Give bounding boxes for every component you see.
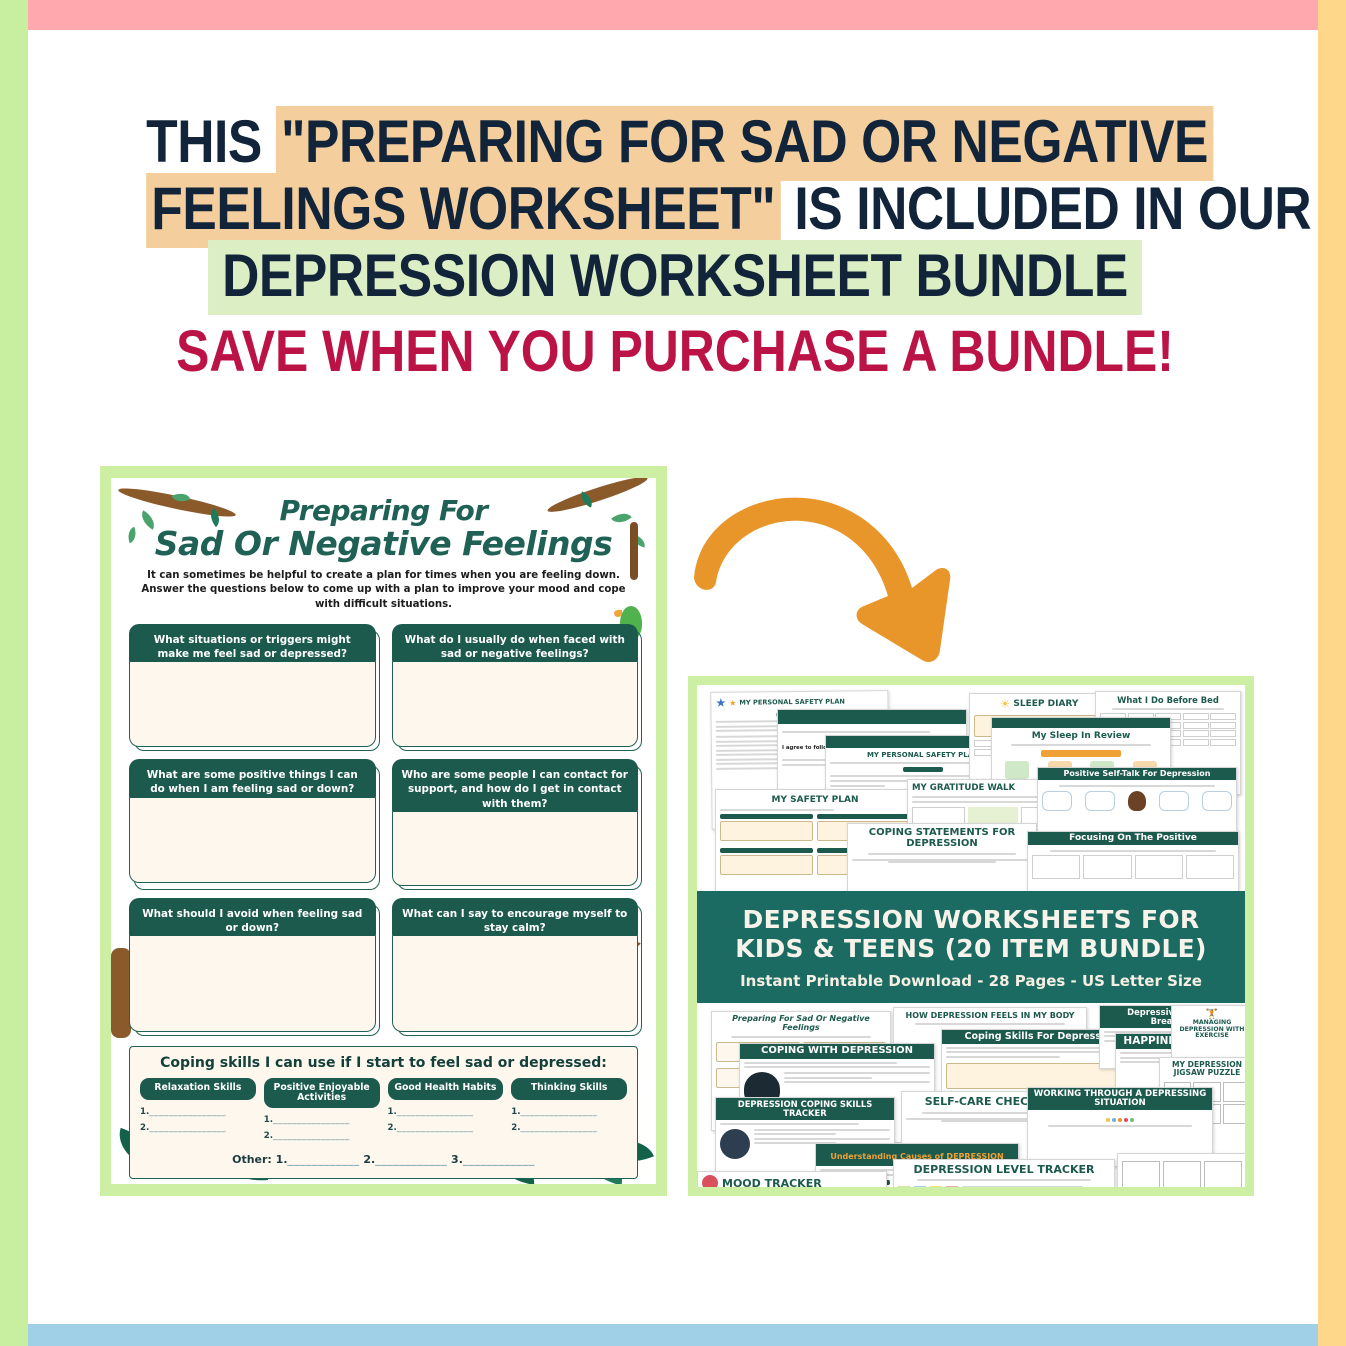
headline-line2-plain: IS INCLUDED IN OUR [780,175,1311,242]
preview-title: Focusing On The Positive [1069,834,1197,843]
bundle-preview-frame[interactable]: ★ ★ MY PERSONAL SAFETY PLAN [688,676,1254,1196]
coping-line-3-2[interactable]: 2.________________ [388,1123,504,1133]
preview-title-bar: Focusing On The Positive [1028,832,1238,845]
coping-skills-section: Coping skills I can use if I start to fe… [129,1046,638,1180]
star-icon: ★ [729,698,736,707]
coping-column-thinking-skills: Thinking Skills 1.________________ 2.___… [511,1078,627,1148]
coping-column-positive-activities: Positive Enjoyable Activities 1.________… [264,1078,380,1148]
coping-line-4-1[interactable]: 1.________________ [511,1107,627,1117]
sun-icon: ☀ [1000,697,1011,711]
worksheet-title-line2: Sad Or Negative Feelings [111,526,656,562]
page-border-left [0,0,28,1346]
worksheet-question-grid: What situations or triggers might make m… [129,624,638,1031]
preview-coping-statements-for-depression[interactable]: COPING STATEMENTS FOR DEPRESSION [847,823,1037,891]
coping-other-num-2: 2. [363,1153,375,1166]
headline-block: THIS "PREPARING FOR SAD OR NEGATIVE FEEL… [60,108,1290,386]
preview-title: COPING STATEMENTS FOR DEPRESSION [852,827,1032,849]
child-avatar-icon [720,1129,750,1159]
preview-title: MANAGING DEPRESSION WITH EXERCISE [1176,1020,1245,1040]
preview-title-bar: COPING WITH DEPRESSION [740,1044,934,1059]
coping-column-label-2: Positive Enjoyable Activities [264,1078,380,1109]
bundle-bottom-previews: Preparing For Sad Or Negative Feelings H… [697,1003,1245,1187]
star-icon: ★ [715,696,726,710]
question-card-3[interactable]: What are some positive things I can do w… [129,759,376,885]
question-card-6[interactable]: What can I say to encourage myself to st… [392,898,639,1032]
coping-lines-1[interactable]: 1.________________ 2.________________ [140,1107,256,1133]
preview-focusing-on-the-positive[interactable]: Focusing On The Positive [1027,831,1239,891]
question-card-2[interactable]: What do I usually do when faced with sad… [392,624,639,747]
bundle-banner-title-line2: KIDS & TEENS (20 ITEM BUNDLE) [735,934,1207,963]
coping-column-label-4: Thinking Skills [511,1078,627,1100]
coping-column-health-habits: Good Health Habits 1.________________ 2.… [388,1078,504,1148]
preview-title: Positive Self-Talk For Depression [1064,770,1211,778]
page-border-right [1318,0,1346,1346]
question-label-4: Who are some people I can contact for su… [392,759,639,819]
answer-area-6[interactable] [392,936,639,1032]
preview-title: My Sleep In Review [996,731,1166,741]
preview-title: DEPRESSION COPING SKILLS TRACKER [719,1100,891,1118]
coping-line-2-2[interactable]: 2.________________ [264,1131,380,1141]
coping-column-label-1: Relaxation Skills [140,1078,256,1100]
coping-line-1-2[interactable]: 2.________________ [140,1123,256,1133]
coping-column-relaxation: Relaxation Skills 1.________________ 2._… [140,1078,256,1148]
preview-title-bar: Positive Self-Talk For Depression [1038,768,1236,780]
answer-area-2[interactable] [392,662,639,747]
headline-line-2: FEELINGS WORKSHEET" IS INCLUDED IN OUR [146,175,1204,242]
worksheet-title-line1: Preparing For [111,496,656,526]
preview-title: MY DEPRESSION JIGSAW PUZZLE [1164,1061,1245,1077]
bundle-collage: ★ ★ MY PERSONAL SAFETY PLAN [697,685,1245,1187]
coping-line-2-1[interactable]: 1.________________ [264,1115,380,1125]
coping-lines-2[interactable]: 1.________________ 2.________________ [264,1115,380,1141]
coping-column-label-3: Good Health Habits [388,1078,504,1100]
question-card-1[interactable]: What situations or triggers might make m… [129,624,376,747]
page-border-bottom [28,1324,1318,1346]
headline-line-3: DEPRESSION WORKSHEET BUNDLE [146,242,1204,309]
coping-skills-title: Coping skills I can use if I start to fe… [140,1055,627,1071]
bundle-banner-subtitle: Instant Printable Download - 28 Pages - … [740,972,1202,990]
preview-jigsaw-puzzle-blank[interactable] [1117,1153,1245,1187]
coping-line-1-1[interactable]: 1.________________ [140,1107,256,1117]
worksheet-page: Preparing For Sad Or Negative Feelings I… [111,478,656,1184]
coping-skills-columns: Relaxation Skills 1.________________ 2._… [140,1078,627,1148]
coping-other-row[interactable]: Other: 1.____________ 2.____________ 3._… [140,1153,627,1166]
preview-title-bar: DEPRESSION COPING SKILLS TRACKER [716,1098,894,1120]
preview-title: COPING WITH DEPRESSION [761,1046,913,1057]
answer-area-3[interactable] [129,798,376,883]
worksheet-intro: It can sometimes be helpful to create a … [141,569,626,612]
preview-title: HOW DEPRESSION FEELS IN MY BODY [898,1011,1082,1020]
bundle-top-previews: ★ ★ MY PERSONAL SAFETY PLAN [697,685,1245,891]
preview-title: Preparing For Sad Or Negative Feelings [716,1015,886,1033]
bundle-banner: DEPRESSION WORKSHEETS FOR KIDS & TEENS (… [697,891,1245,1003]
preview-title: Coping Skills For Depression [964,1032,1117,1042]
worksheet-title: Preparing For Sad Or Negative Feelings [111,478,656,562]
superhero-icon [702,1175,718,1187]
preview-title-bar: WORKING THROUGH A DEPRESSING SITUATION [1028,1088,1212,1110]
headline-line3-highlight: DEPRESSION WORKSHEET BUNDLE [208,240,1141,315]
answer-area-5[interactable] [129,936,376,1032]
preview-title: MY SAFETY PLAN [720,795,910,805]
curved-arrow-icon [672,482,972,672]
preview-depression-level-tracker[interactable]: DEPRESSION LEVEL TRACKER [893,1159,1115,1187]
child-avatar-icon [1128,791,1146,811]
preview-title: WORKING THROUGH A DEPRESSING SITUATION [1031,1090,1209,1108]
preview-mood-tracker[interactable]: MOOD TRACKER [697,1171,887,1187]
preview-title: MY PERSONAL SAFETY PLAN [739,698,845,707]
coping-other-num-3: 3. [451,1153,463,1166]
preview-title: What I Do Before Bed [1100,695,1236,705]
coping-line-4-2[interactable]: 2.________________ [511,1123,627,1133]
worksheet-preview-frame[interactable]: Preparing For Sad Or Negative Feelings I… [100,466,667,1196]
headline-line-1: THIS "PREPARING FOR SAD OR NEGATIVE [146,108,1204,175]
headline-line1-plain: THIS [146,108,276,175]
coping-lines-4[interactable]: 1.________________ 2.________________ [511,1107,627,1133]
coping-other-label: Other: [232,1153,272,1166]
headline-line1-highlight: "PREPARING FOR SAD OR NEGATIVE [276,106,1213,181]
question-card-5[interactable]: What should I avoid when feeling sad or … [129,898,376,1032]
answer-area-1[interactable] [129,662,376,747]
preview-title: MOOD TRACKER [722,1177,822,1188]
preview-managing-depression-with-exercise[interactable]: 🏋 MANAGING DEPRESSION WITH EXERCISE [1171,1005,1245,1063]
headline-line2-highlight: FEELINGS WORKSHEET" [146,173,780,248]
coping-other-num-1: 1. [276,1153,288,1166]
preview-title: SLEEP DIARY [1013,699,1078,709]
headline-save-line: SAVE WHEN YOU PURCHASE A BUNDLE! [146,318,1204,386]
coping-line-3-1[interactable]: 1.________________ [388,1107,504,1117]
page-border-top [28,0,1318,30]
answer-area-4[interactable] [392,812,639,886]
bundle-banner-title-line1: DEPRESSION WORKSHEETS FOR [743,905,1200,934]
coping-lines-3[interactable]: 1.________________ 2.________________ [388,1107,504,1133]
question-card-4[interactable]: Who are some people I can contact for su… [392,759,639,885]
preview-title: DEPRESSION LEVEL TRACKER [898,1163,1110,1176]
